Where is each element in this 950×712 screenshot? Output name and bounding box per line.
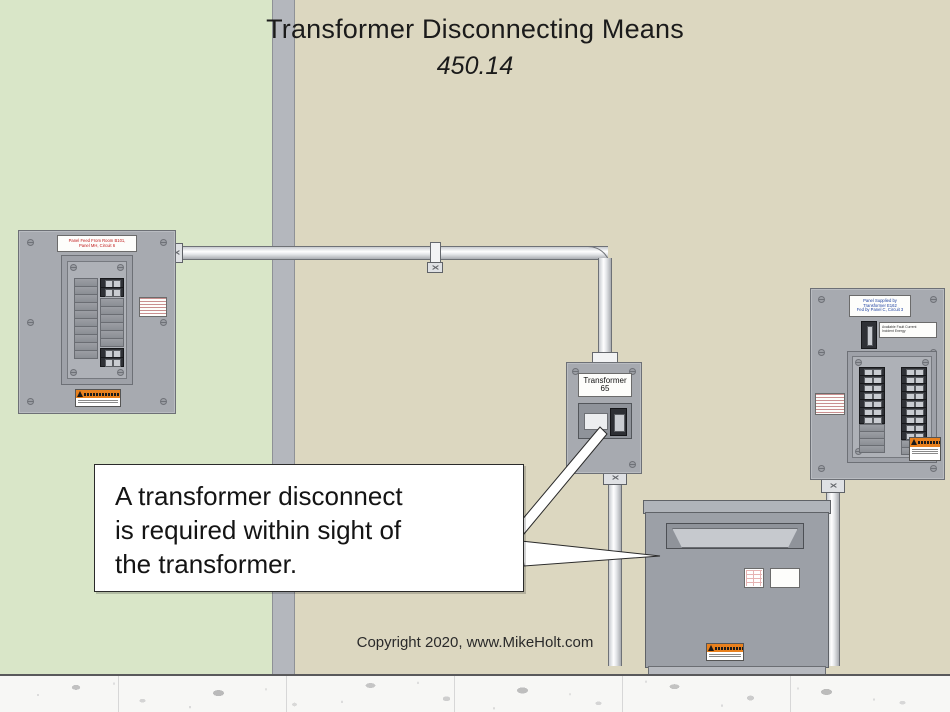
screw-icon	[855, 359, 862, 366]
screw-icon	[117, 369, 124, 376]
page-title: Transformer Disconnecting Means	[0, 14, 950, 45]
screw-icon	[27, 398, 34, 405]
filler-strip	[100, 338, 124, 347]
transformer-blank-plate	[770, 568, 800, 588]
floor-terrazzo	[0, 674, 950, 712]
disconnect-lever[interactable]	[614, 414, 625, 432]
callout-line-2: is required within sight of	[115, 513, 511, 547]
transformer-nameplate	[744, 568, 764, 588]
floor-seam	[286, 676, 287, 712]
right-panelboard[interactable]: Panel Supplied by Transformer E162 Fed b…	[810, 288, 945, 480]
screw-icon	[930, 465, 937, 472]
conduit-strap-right-panel	[821, 478, 845, 493]
circuit-breaker[interactable]	[100, 357, 124, 367]
filler-strip	[74, 350, 98, 359]
circuit-breaker[interactable]	[100, 287, 124, 297]
disconnect-indicator-window	[584, 413, 608, 430]
callout-line-1: A transformer disconnect	[115, 479, 511, 513]
floor-seam	[454, 676, 455, 712]
right-panel-directory	[815, 393, 845, 415]
conduit-coupling	[430, 242, 441, 264]
screw-icon	[160, 398, 167, 405]
floor-seam	[622, 676, 623, 712]
disconnect-switch-handle[interactable]	[610, 408, 627, 436]
floor-speckle-texture	[0, 676, 950, 712]
conduit-horizontal	[168, 246, 608, 260]
right-panel-arc-flash-study-label: Available Fault Current Incident Energy	[879, 322, 937, 338]
screw-icon	[70, 369, 77, 376]
transformer-vent-louver	[672, 528, 798, 548]
left-panel-deadfront	[67, 261, 127, 379]
callout-box: A transformer disconnect is required wit…	[94, 464, 524, 592]
left-panel-arc-flash-warning	[75, 389, 121, 407]
screw-icon	[930, 296, 937, 303]
left-panel-feed-label: Panel Feed From Room B101, Panel MH, Cir…	[57, 235, 137, 252]
circuit-breaker[interactable]	[859, 415, 885, 424]
left-panel-interior	[61, 255, 133, 385]
screw-icon	[818, 296, 825, 303]
conduit-vertical-to-disconnect	[598, 258, 612, 366]
copyright-notice: Copyright 2020, www.MikeHolt.com	[0, 634, 950, 651]
disconnect-operating-plate	[578, 403, 632, 439]
disconnect-identification-label: Transformer 65	[578, 373, 632, 397]
page-subtitle: 450.14	[0, 52, 950, 81]
screw-icon	[160, 319, 167, 326]
diagram-canvas: Transformer Disconnecting Means 450.14 P…	[0, 0, 950, 712]
conduit-strap-top	[427, 262, 443, 273]
left-panelboard[interactable]: Panel Feed From Room B101, Panel MH, Cir…	[18, 230, 176, 414]
screw-icon	[160, 239, 167, 246]
floor-seam	[118, 676, 119, 712]
callout-line-3: the transformer.	[115, 547, 511, 581]
right-panel-arc-flash-warning	[909, 437, 941, 461]
screw-icon	[117, 264, 124, 271]
screw-icon	[27, 319, 34, 326]
filler-strip	[859, 445, 885, 453]
screw-icon	[629, 461, 636, 468]
screw-icon	[70, 264, 77, 271]
main-circuit-breaker[interactable]	[861, 321, 877, 349]
screw-icon	[572, 461, 579, 468]
screw-icon	[922, 359, 929, 366]
screw-icon	[818, 465, 825, 472]
floor-seam	[790, 676, 791, 712]
callout-text: A transformer disconnect is required wit…	[115, 479, 511, 581]
screw-icon	[818, 349, 825, 356]
right-panel-supply-label: Panel Supplied by Transformer E162 Fed b…	[849, 295, 911, 317]
left-panel-directory	[139, 297, 167, 317]
transformer-disconnect-enclosure[interactable]: Transformer 65	[566, 362, 642, 474]
screw-icon	[27, 239, 34, 246]
